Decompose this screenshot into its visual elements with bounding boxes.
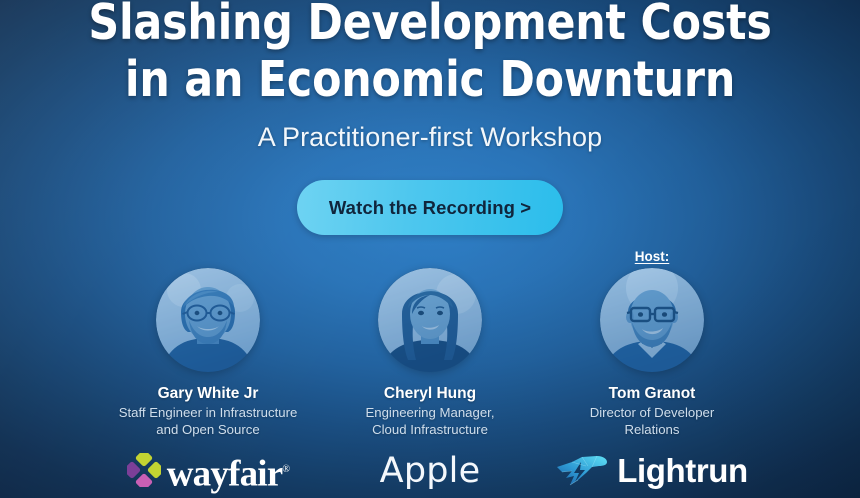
- speaker-card-gary-white-jr: Gary White Jr Staff Engineer in Infrastr…: [97, 248, 319, 438]
- speaker-role: Staff Engineer in Infrastructure and Ope…: [97, 404, 319, 438]
- wayfair-wordmark: wayfair®: [167, 451, 289, 492]
- avatar-gary-white-jr-image: [156, 268, 260, 372]
- apple-wordmark: Apple: [380, 451, 481, 491]
- wayfair-registered-mark: ®: [282, 464, 289, 475]
- speaker-card-cheryl-hung: Cheryl Hung Engineering Manager, Cloud I…: [319, 248, 541, 438]
- host-label-spacer: [319, 248, 541, 268]
- avatar-gary-white-jr: [156, 268, 260, 372]
- wayfair-wordmark-text: wayfair: [167, 453, 283, 494]
- speaker-card-tom-granot: Host:: [541, 248, 763, 438]
- title-line-2: in an Economic Downturn: [13, 51, 847, 108]
- company-logos-row: wayfair® Apple: [0, 443, 860, 498]
- speaker-role-line-1: Director of Developer: [590, 405, 715, 420]
- logo-cell-lightrun: Lightrun: [541, 443, 763, 498]
- speaker-name: Tom Granot: [541, 384, 763, 403]
- webinar-promo-slide: Slashing Development Costs in an Economi…: [0, 0, 860, 498]
- logo-cell-apple: Apple: [319, 443, 541, 498]
- host-label: Host:: [541, 248, 763, 266]
- speaker-role-line-1: Staff Engineer in Infrastructure: [119, 405, 298, 420]
- wayfair-mark-icon: [127, 453, 161, 487]
- wayfair-logo: wayfair®: [127, 450, 289, 491]
- avatar-tom-granot: [600, 268, 704, 372]
- avatar-cheryl-hung-image: [378, 268, 482, 372]
- speaker-role-line-2: Relations: [625, 422, 680, 437]
- avatar-tom-granot-image: [600, 268, 704, 372]
- lightrun-cheetah-icon: [556, 454, 608, 488]
- speaker-role-line-2: and Open Source: [156, 422, 259, 437]
- speaker-role-line-1: Engineering Manager,: [365, 405, 494, 420]
- speaker-name: Cheryl Hung: [319, 384, 541, 403]
- speaker-role: Director of Developer Relations: [541, 404, 763, 438]
- speaker-role: Engineering Manager, Cloud Infrastructur…: [319, 404, 541, 438]
- speakers-row: Gary White Jr Staff Engineer in Infrastr…: [0, 248, 860, 438]
- subtitle: A Practitioner-first Workshop: [0, 122, 860, 153]
- lightrun-logo: Lightrun: [556, 452, 748, 490]
- avatar-cheryl-hung: [378, 268, 482, 372]
- speaker-role-line-2: Cloud Infrastructure: [372, 422, 488, 437]
- speaker-name: Gary White Jr: [97, 384, 319, 403]
- title-line-1: Slashing Development Costs: [13, 0, 847, 51]
- watch-the-recording-button[interactable]: Watch the Recording >: [297, 180, 563, 235]
- logo-cell-wayfair: wayfair®: [97, 443, 319, 498]
- cta-container: Watch the Recording >: [0, 180, 860, 235]
- host-label-spacer: [97, 248, 319, 268]
- page-title: Slashing Development Costs in an Economi…: [13, 0, 847, 108]
- lightrun-wordmark: Lightrun: [617, 452, 748, 490]
